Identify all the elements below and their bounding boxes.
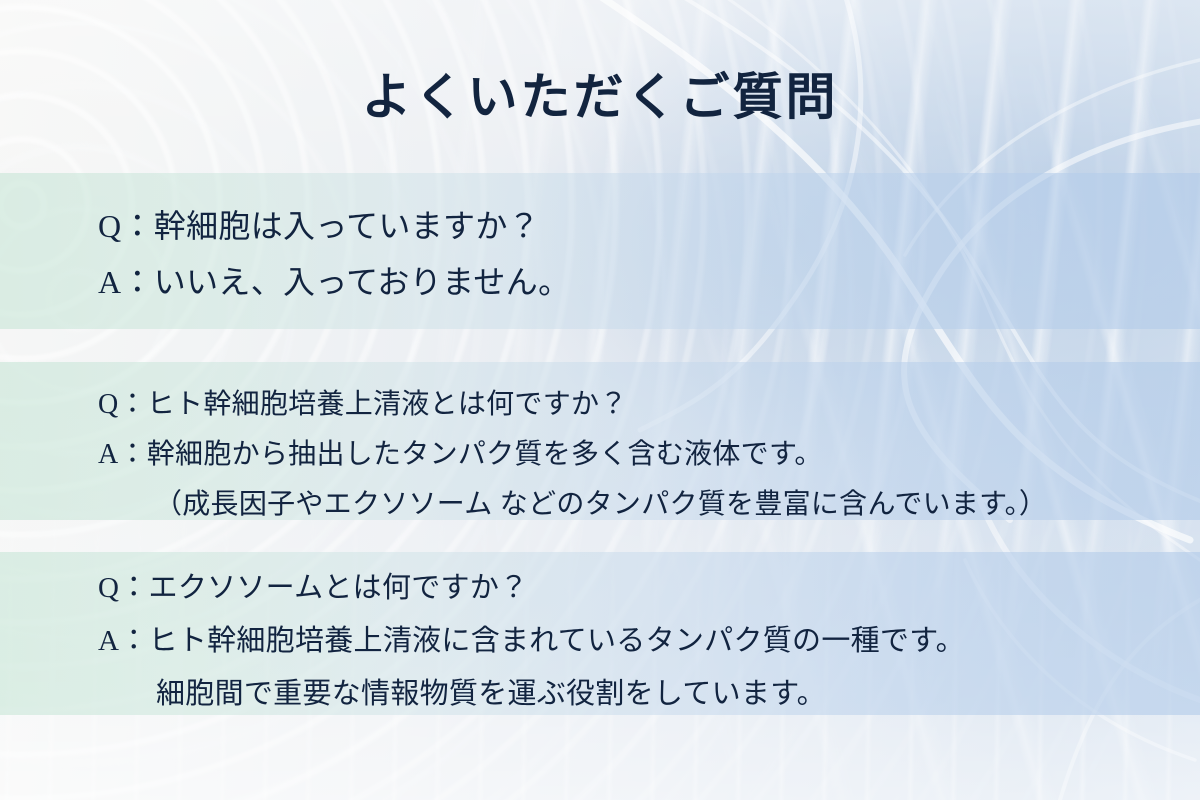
faq-item-2: Q：ヒト幹細胞培養上清液とは何ですか？ A：幹細胞から抽出したタンパク質を多く含…	[98, 380, 1047, 530]
faq-item-3-answer: A：ヒト幹細胞培養上清液に含まれているタンパク質の一種です。	[98, 615, 965, 668]
faq-item-2-question: Q：ヒト幹細胞培養上清液とは何ですか？	[98, 380, 1047, 430]
faq-item-1-answer: A：いいえ、入っておりません。	[98, 254, 570, 310]
faq-item-3: Q：エクソソームとは何ですか？ A：ヒト幹細胞培養上清液に含まれているタンパク質…	[98, 562, 965, 721]
faq-item-3-question: Q：エクソソームとは何ですか？	[98, 562, 965, 615]
faq-item-1: Q：幹細胞は入っていますか？ A：いいえ、入っておりません。	[98, 198, 570, 310]
faq-item-2-answer: A：幹細胞から抽出したタンパク質を多く含む液体です。	[98, 430, 1047, 480]
faq-item-2-note: （成長因子やエクソソーム などのタンパク質を豊富に含んでいます。）	[98, 480, 1047, 530]
page-title: よくいただくご質問	[0, 70, 1200, 125]
faq-item-3-note: 細胞間で重要な情報物質を運ぶ役割をしています。	[98, 668, 965, 721]
faq-slide: よくいただくご質問 Q：幹細胞は入っていますか？ A：いいえ、入っておりません。…	[0, 0, 1200, 800]
faq-item-1-question: Q：幹細胞は入っていますか？	[98, 198, 570, 254]
